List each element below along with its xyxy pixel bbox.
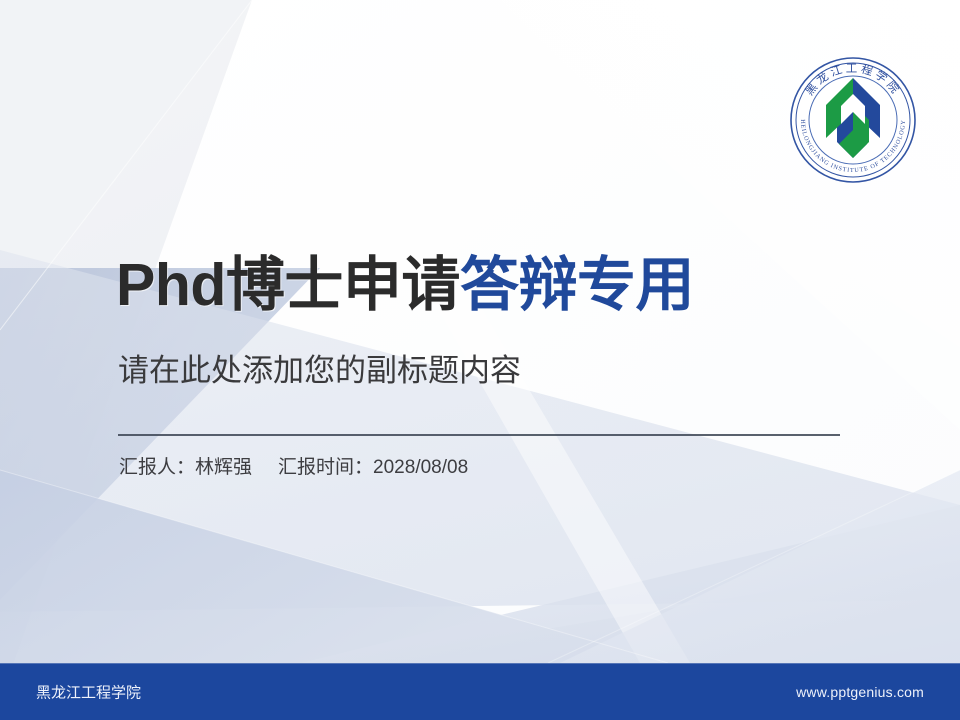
presenter-label: 汇报人：: [119, 457, 195, 478]
slide-title: Phd博士申请答辩专用: [116, 252, 694, 318]
title-divider: [118, 434, 840, 436]
presentation-title-slide: 黑龙江工程学院 HEILONGJIANG INSTITUTE OF TECHNO…: [0, 0, 960, 720]
presentation-meta: 汇报人：林辉强汇报时间：2028/08/08: [119, 452, 468, 479]
presenter-name: 林辉强: [195, 457, 252, 478]
slide-title-accent: 答辩专用: [460, 252, 694, 318]
university-logo-icon: 黑龙江工程学院 HEILONGJIANG INSTITUTE OF TECHNO…: [783, 50, 923, 190]
date-label: 汇报时间：: [278, 457, 373, 478]
slide-subtitle: 请在此处添加您的副标题内容: [118, 352, 521, 389]
footer-website[interactable]: www.pptgenius.com: [796, 684, 924, 700]
date-value: 2028/08/08: [373, 457, 468, 478]
slide-title-main: Phd博士申请: [116, 252, 460, 318]
footer-bar: 黑龙江工程学院 www.pptgenius.com: [0, 663, 960, 720]
footer-organization: 黑龙江工程学院: [36, 681, 141, 702]
